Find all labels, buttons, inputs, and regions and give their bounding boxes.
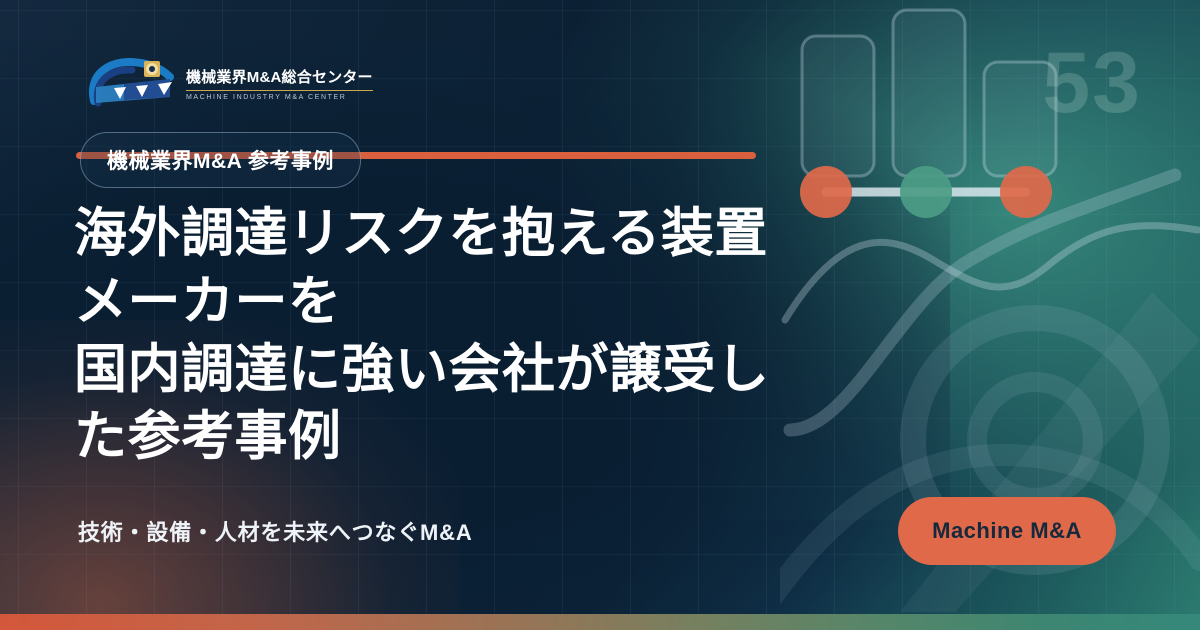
headline-line-2: メーカーを bbox=[74, 268, 874, 336]
page-title: 海外調達リスクを抱える装置 メーカーを 国内調達に強い会社が譲受し た参考事例 bbox=[74, 200, 874, 471]
tagline: 技術・設備・人材を未来へつなぐM&A bbox=[78, 515, 473, 547]
headline-line-1: 海外調達リスクを抱える装置 bbox=[74, 200, 874, 268]
category-badge: 機械業界M&A 参考事例 bbox=[80, 132, 361, 188]
logo-text-block: 機械業界M&A総合センター MACHINE INDUSTRY M&A CENTE… bbox=[186, 66, 373, 101]
gear-icon bbox=[144, 61, 160, 77]
headline-line-4: た参考事例 bbox=[74, 403, 874, 471]
logo-divider bbox=[186, 90, 373, 91]
logo-subtitle: MACHINE INDUSTRY M&A CENTER bbox=[186, 94, 373, 101]
headline-line-3: 国内調達に強い会社が譲受し bbox=[74, 336, 874, 404]
arc-arrow-gear-logo-icon bbox=[84, 57, 180, 109]
ogp-card: 53 機械業界M&A総合センター MACHINE INDUSTRY M&A CE… bbox=[0, 0, 1200, 630]
number-watermark: 53 bbox=[1042, 40, 1142, 126]
bottom-accent-bar bbox=[0, 614, 1200, 630]
brand-pill[interactable]: Machine M&A bbox=[898, 497, 1116, 565]
site-logo[interactable]: 機械業界M&A総合センター MACHINE INDUSTRY M&A CENTE… bbox=[84, 55, 373, 111]
logo-title: 機械業界M&A総合センター bbox=[186, 66, 373, 87]
